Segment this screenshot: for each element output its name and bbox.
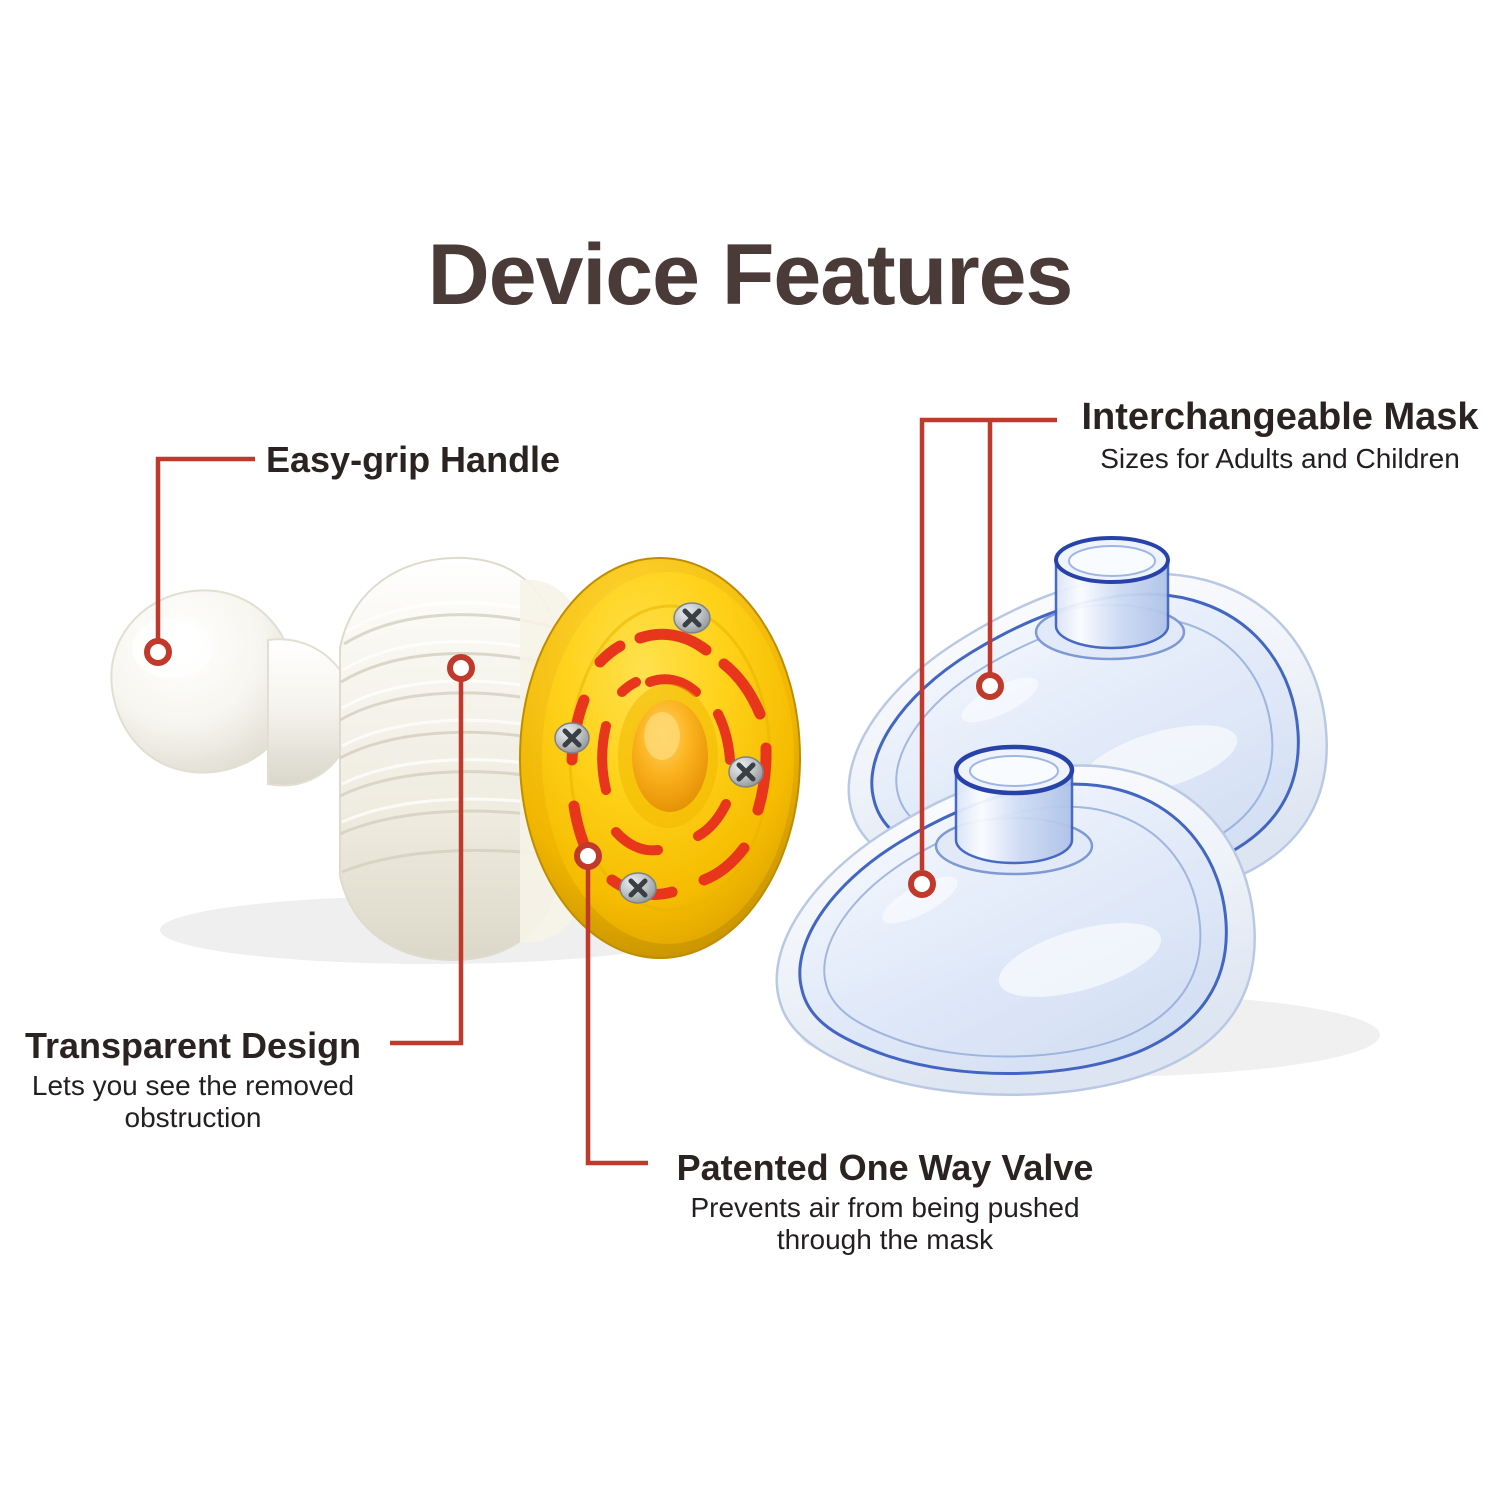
callout-title: Transparent Design [8,1026,378,1066]
bulb-handle [111,590,353,785]
callout-subtitle-line: Lets you see the removed [8,1070,378,1101]
phillips-screw-north [674,603,710,633]
callout-subtitle-line: through the mask [655,1224,1115,1255]
callout-title: Easy-grip Handle [266,440,560,480]
callout-subtitle-line: Sizes for Adults and Children [1070,443,1490,474]
phillips-screw-east [729,757,763,787]
product-illustration [0,0,1500,1500]
callout-title: Interchangeable Mask [1070,396,1490,439]
callout-easy-grip-handle: Easy-grip Handle [266,440,560,480]
infographic-canvas: Device Features [0,0,1500,1500]
callout-subtitle-line: obstruction [8,1102,378,1133]
phillips-screw-west [555,723,589,753]
callout-title: Patented One Way Valve [655,1148,1115,1188]
callout-subtitle-line: Prevents air from being pushed [655,1192,1115,1223]
yellow-valve-disc [520,558,800,958]
callout-interchangeable-mask: Interchangeable Mask Sizes for Adults an… [1070,396,1490,474]
callout-transparent-design: Transparent Design Lets you see the remo… [8,1026,378,1133]
phillips-screw-south [620,873,656,903]
callout-patented-one-way-valve: Patented One Way Valve Prevents air from… [655,1148,1115,1255]
